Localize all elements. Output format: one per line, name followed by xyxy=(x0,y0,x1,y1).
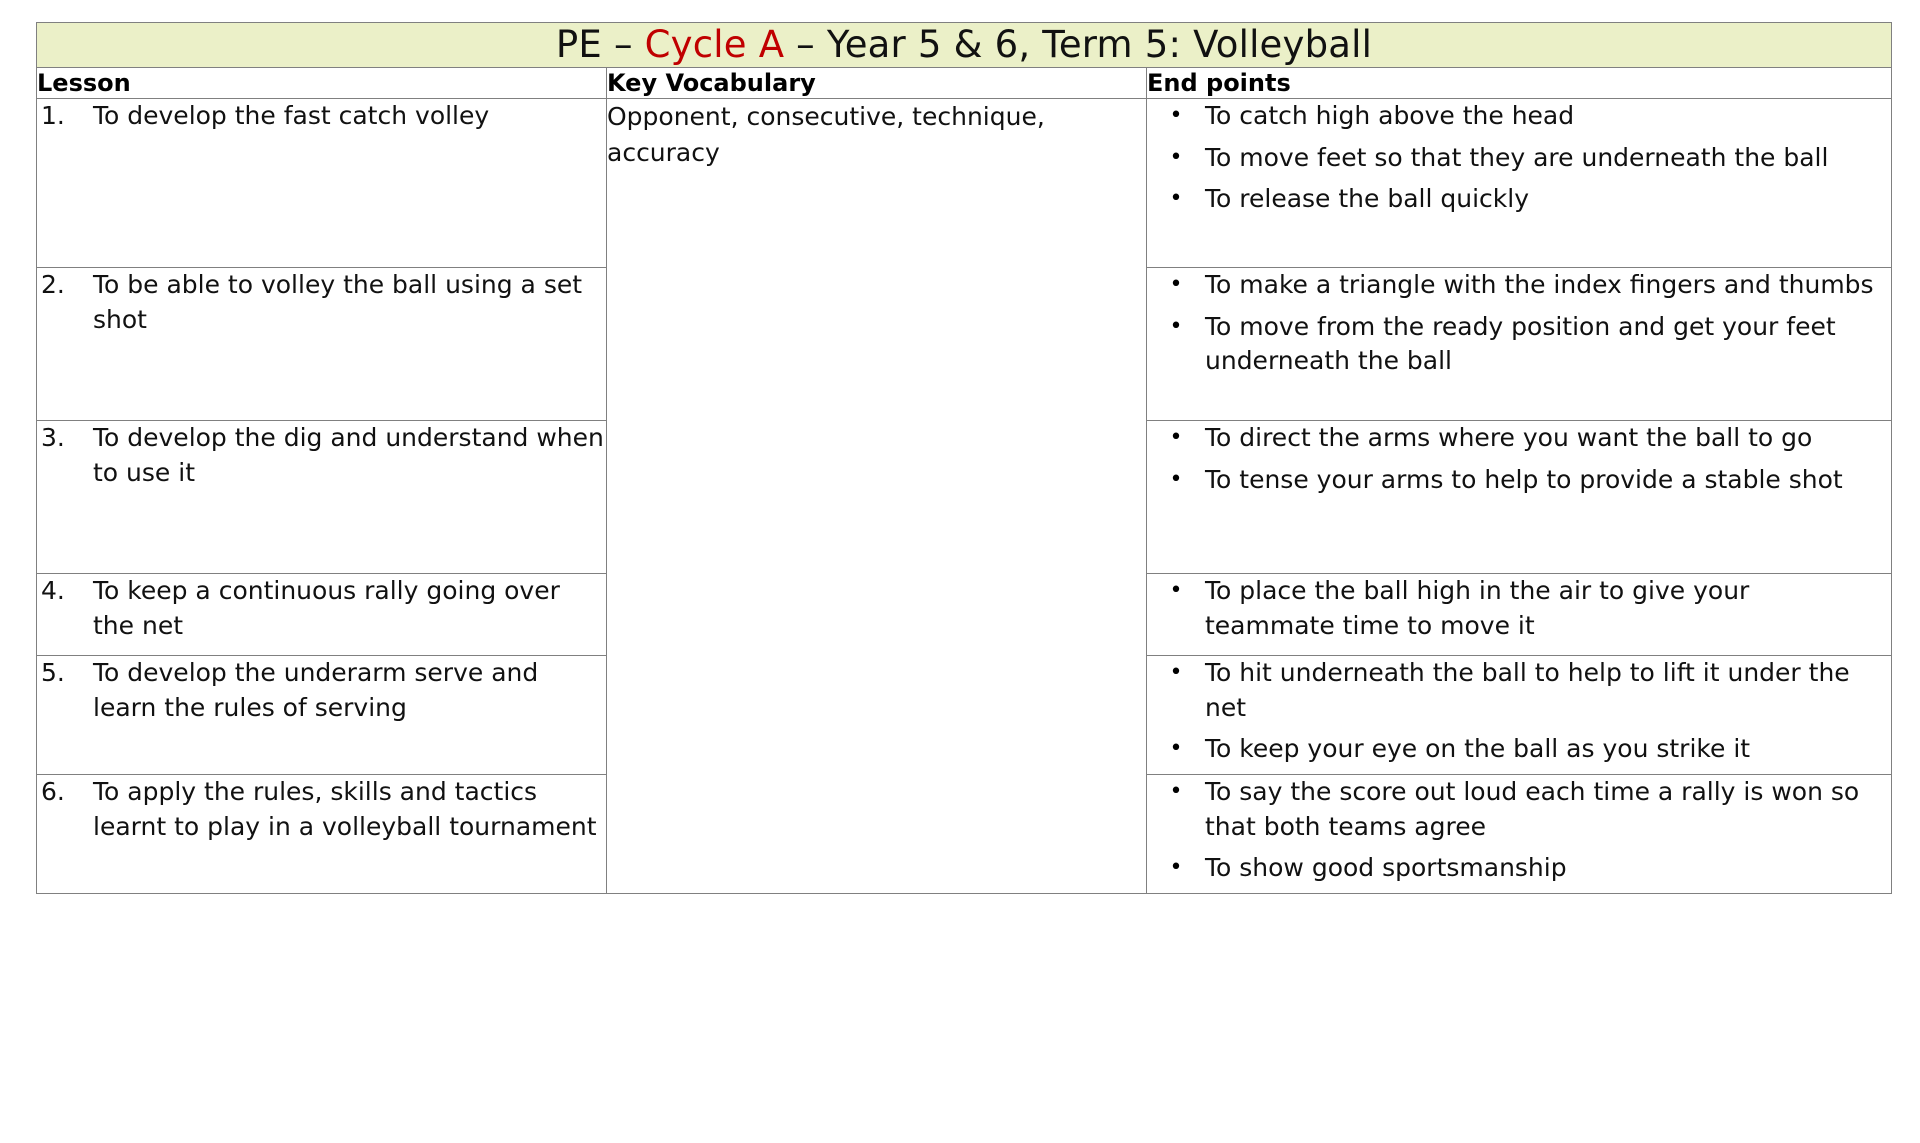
bullet-icon: • xyxy=(1147,463,1205,496)
lesson-cell-3: 3. To develop the dig and understand whe… xyxy=(37,421,607,574)
bullet-icon: • xyxy=(1147,268,1205,301)
lesson-text-6: To apply the rules, skills and tactics l… xyxy=(93,775,606,844)
list-item: • To move from the ready position and ge… xyxy=(1147,310,1891,379)
table-row: 1. To develop the fast catch volley Oppo… xyxy=(37,99,1892,268)
list-item: • To catch high above the head xyxy=(1147,99,1891,134)
key-vocabulary-text: Opponent, consecutive, technique, accura… xyxy=(607,99,1146,170)
end-points-cell-4: • To place the ball high in the air to g… xyxy=(1147,574,1892,656)
end-point-text: To release the ball quickly xyxy=(1205,182,1891,217)
end-point-text: To tense your arms to help to provide a … xyxy=(1205,463,1891,498)
end-points-cell-3: • To direct the arms where you want the … xyxy=(1147,421,1892,574)
end-points-cell-6: • To say the score out loud each time a … xyxy=(1147,775,1892,894)
list-item: • To keep your eye on the ball as you st… xyxy=(1147,732,1891,767)
lesson-text-2: To be able to volley the ball using a se… xyxy=(93,268,606,337)
end-points-list-3: • To direct the arms where you want the … xyxy=(1147,421,1891,497)
bullet-icon: • xyxy=(1147,656,1205,689)
lesson-cell-2: 2. To be able to volley the ball using a… xyxy=(37,268,607,421)
bullet-icon: • xyxy=(1147,421,1205,454)
column-header-row: Lesson Key Vocabulary End points xyxy=(37,68,1892,99)
end-points-cell-5: • To hit underneath the ball to help to … xyxy=(1147,656,1892,775)
bullet-icon: • xyxy=(1147,310,1205,343)
lesson-number-4: 4. xyxy=(37,574,93,609)
list-item: • To place the ball high in the air to g… xyxy=(1147,574,1891,643)
end-points-list-6: • To say the score out loud each time a … xyxy=(1147,775,1891,886)
list-item: • To hit underneath the ball to help to … xyxy=(1147,656,1891,725)
end-point-text: To make a triangle with the index finger… xyxy=(1205,268,1891,303)
lesson-cell-6: 6. To apply the rules, skills and tactic… xyxy=(37,775,607,894)
lesson-number-2: 2. xyxy=(37,268,93,303)
key-vocabulary-cell: Opponent, consecutive, technique, accura… xyxy=(607,99,1147,894)
end-point-text: To catch high above the head xyxy=(1205,99,1891,134)
lesson-text-4: To keep a continuous rally going over th… xyxy=(93,574,606,643)
column-header-key-vocabulary: Key Vocabulary xyxy=(607,68,1147,99)
bullet-icon: • xyxy=(1147,141,1205,174)
title-banner: PE – Cycle A – Year 5 & 6, Term 5: Volle… xyxy=(37,23,1892,68)
lesson-text-1: To develop the fast catch volley xyxy=(93,99,606,134)
lesson-cell-4: 4. To keep a continuous rally going over… xyxy=(37,574,607,656)
list-item: • To make a triangle with the index fing… xyxy=(1147,268,1891,303)
bullet-icon: • xyxy=(1147,574,1205,607)
title-accent: Cycle A xyxy=(645,23,785,66)
list-item: • To release the ball quickly xyxy=(1147,182,1891,217)
bullet-icon: • xyxy=(1147,851,1205,884)
bullet-icon: • xyxy=(1147,775,1205,808)
lesson-cell-5: 5. To develop the underarm serve and lea… xyxy=(37,656,607,775)
lesson-cell-1: 1. To develop the fast catch volley xyxy=(37,99,607,268)
bullet-icon: • xyxy=(1147,99,1205,132)
list-item: • To move feet so that they are undernea… xyxy=(1147,141,1891,176)
end-points-cell-2: • To make a triangle with the index fing… xyxy=(1147,268,1892,421)
list-item: • To direct the arms where you want the … xyxy=(1147,421,1891,456)
lesson-number-5: 5. xyxy=(37,656,93,691)
bullet-icon: • xyxy=(1147,182,1205,215)
column-header-lesson: Lesson xyxy=(37,68,607,99)
end-point-text: To say the score out loud each time a ra… xyxy=(1205,775,1891,844)
end-points-list-4: • To place the ball high in the air to g… xyxy=(1147,574,1891,643)
end-point-text: To keep your eye on the ball as you stri… xyxy=(1205,732,1891,767)
lesson-text-3: To develop the dig and understand when t… xyxy=(93,421,606,490)
lesson-number-6: 6. xyxy=(37,775,93,810)
title-row: PE – Cycle A – Year 5 & 6, Term 5: Volle… xyxy=(37,23,1892,68)
list-item: • To show good sportsmanship xyxy=(1147,851,1891,886)
end-point-text: To place the ball high in the air to giv… xyxy=(1205,574,1891,643)
end-point-text: To move from the ready position and get … xyxy=(1205,310,1891,379)
lesson-number-1: 1. xyxy=(37,99,93,134)
column-header-end-points: End points xyxy=(1147,68,1892,99)
end-points-list-5: • To hit underneath the ball to help to … xyxy=(1147,656,1891,767)
end-point-text: To move feet so that they are underneath… xyxy=(1205,141,1891,176)
end-points-list-1: • To catch high above the head • To move… xyxy=(1147,99,1891,217)
title-suffix: – Year 5 & 6, Term 5: Volleyball xyxy=(784,23,1372,66)
page-title: PE – Cycle A – Year 5 & 6, Term 5: Volle… xyxy=(556,23,1372,66)
bullet-icon: • xyxy=(1147,732,1205,765)
end-point-text: To hit underneath the ball to help to li… xyxy=(1205,656,1891,725)
curriculum-table: PE – Cycle A – Year 5 & 6, Term 5: Volle… xyxy=(36,22,1892,894)
list-item: • To say the score out loud each time a … xyxy=(1147,775,1891,844)
end-point-text: To show good sportsmanship xyxy=(1205,851,1891,886)
document-page: PE – Cycle A – Year 5 & 6, Term 5: Volle… xyxy=(0,0,1920,1143)
end-points-list-2: • To make a triangle with the index fing… xyxy=(1147,268,1891,379)
title-prefix: PE – xyxy=(556,23,645,66)
list-item: • To tense your arms to help to provide … xyxy=(1147,463,1891,498)
end-point-text: To direct the arms where you want the ba… xyxy=(1205,421,1891,456)
end-points-cell-1: • To catch high above the head • To move… xyxy=(1147,99,1892,268)
lesson-number-3: 3. xyxy=(37,421,93,456)
lesson-text-5: To develop the underarm serve and learn … xyxy=(93,656,606,725)
